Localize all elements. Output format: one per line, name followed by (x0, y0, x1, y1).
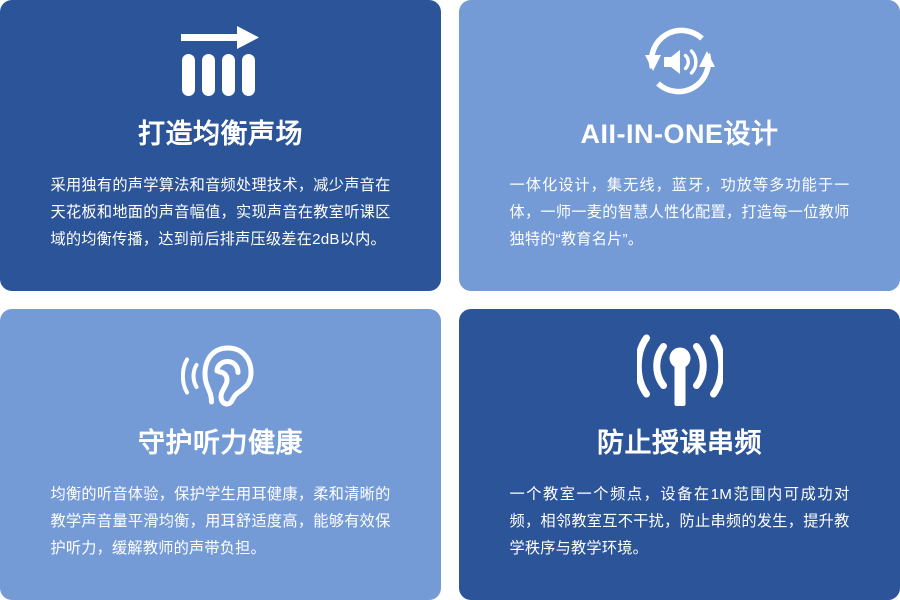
feature-card-description: 采用独有的声学算法和音频处理技术，减少声音在天花板和地面的声音幅值，实现声音在教… (51, 172, 391, 253)
feature-card-title: 防止授课串频 (597, 427, 762, 459)
feature-card-title: 打造均衡声场 (138, 118, 303, 150)
feature-card-title: AII-IN-ONE设计 (581, 118, 779, 150)
feature-card-all-in-one-design[interactable]: AII-IN-ONE设计 一体化设计，集无线，蓝牙，功放等多功能于一体，一师一麦… (459, 0, 900, 291)
feature-card-description: 均衡的听音体验，保护学生用耳健康，柔和清晰的教学声音量平滑均衡，用耳舒适度高，能… (51, 481, 391, 562)
feature-card-balanced-sound-field[interactable]: 打造均衡声场 采用独有的声学算法和音频处理技术，减少声音在天花板和地面的声音幅值… (0, 0, 441, 291)
sound-bars-arrow-icon (179, 18, 263, 104)
ear-sound-icon (181, 327, 261, 413)
antenna-broadcast-icon (637, 327, 723, 413)
feature-card-description: 一体化设计，集无线，蓝牙，功放等多功能于一体，一师一麦的智慧人性化配置，打造每一… (510, 172, 850, 253)
feature-card-title: 守护听力健康 (138, 427, 303, 459)
speaker-loop-icon (640, 18, 720, 104)
feature-card-grid: 打造均衡声场 采用独有的声学算法和音频处理技术，减少声音在天花板和地面的声音幅值… (0, 0, 900, 600)
feature-card-prevent-frequency-crosstalk[interactable]: 防止授课串频 一个教室一个频点，设备在1M范围内可成功对频，相邻教室互不干扰，防… (459, 309, 900, 600)
feature-card-description: 一个教室一个频点，设备在1M范围内可成功对频，相邻教室互不干扰，防止串频的发生，… (510, 481, 850, 562)
feature-card-hearing-health-protection[interactable]: 守护听力健康 均衡的听音体验，保护学生用耳健康，柔和清晰的教学声音量平滑均衡，用… (0, 309, 441, 600)
